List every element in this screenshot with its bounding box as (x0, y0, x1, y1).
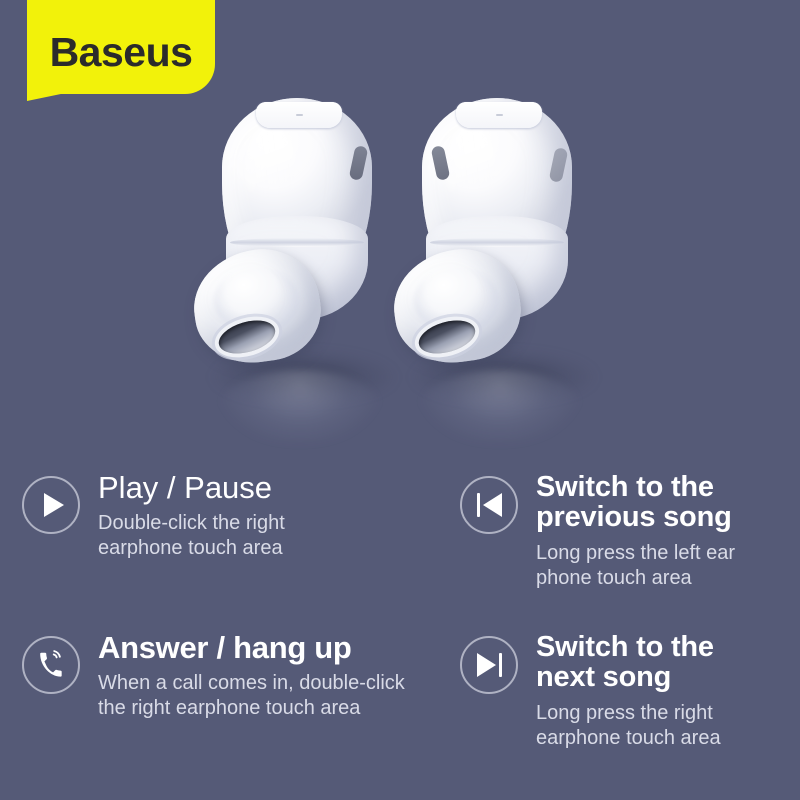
earbud-mic-hole (496, 114, 503, 116)
earbud-reflection (220, 370, 380, 444)
feature-play-pause: Play / Pause Double-click the right earp… (22, 472, 442, 560)
feature-title: Switch to the next song (536, 632, 721, 692)
feature-next-song: Switch to the next song Long press the r… (460, 632, 790, 750)
product-image (0, 88, 800, 458)
feature-text-block: Play / Pause Double-click the right earp… (98, 472, 285, 560)
earbud-highlight (444, 124, 498, 220)
previous-track-glyph-icon (477, 493, 502, 517)
next-track-glyph-icon (477, 653, 502, 677)
ringing-phone-icon (22, 636, 80, 694)
earbud-seam (430, 238, 564, 247)
ringing-phone-glyph-icon (36, 650, 66, 680)
brand-wordmark: Baseus (50, 32, 193, 73)
feature-answer-hang-up: Answer / hang up When a call comes in, d… (22, 632, 452, 720)
next-track-triangle-icon (477, 653, 496, 677)
feature-text-block: Answer / hang up When a call comes in, d… (98, 632, 405, 720)
brand-logo: Baseus (27, 0, 215, 94)
feature-subtitle: When a call comes in, double-click the r… (98, 671, 405, 720)
earbud-mic-hole (296, 114, 303, 116)
feature-subtitle: Long press the right earphone touch area (536, 701, 721, 750)
feature-title: Switch to the previous song (536, 472, 735, 532)
feature-title: Answer / hang up (98, 632, 405, 664)
feature-text-block: Switch to the next song Long press the r… (536, 632, 721, 750)
next-track-icon (460, 636, 518, 694)
feature-title: Play / Pause (98, 472, 285, 504)
right-earbud (400, 98, 600, 398)
previous-track-triangle-icon (483, 493, 502, 517)
previous-track-bar-icon (477, 493, 480, 517)
earbud-seam (230, 238, 364, 247)
play-triangle-icon (44, 493, 64, 517)
feature-subtitle: Double-click the right earphone touch ar… (98, 511, 285, 560)
previous-track-icon (460, 476, 518, 534)
feature-subtitle: Long press the left ear phone touch area (536, 541, 735, 590)
product-infographic: Baseus (0, 0, 800, 800)
next-track-bar-icon (499, 653, 502, 677)
earbud-highlight (244, 124, 298, 220)
play-icon (22, 476, 80, 534)
earbud-reflection (420, 370, 580, 444)
left-earbud (200, 98, 400, 398)
feature-previous-song: Switch to the previous song Long press t… (460, 472, 790, 590)
feature-text-block: Switch to the previous song Long press t… (536, 472, 735, 590)
